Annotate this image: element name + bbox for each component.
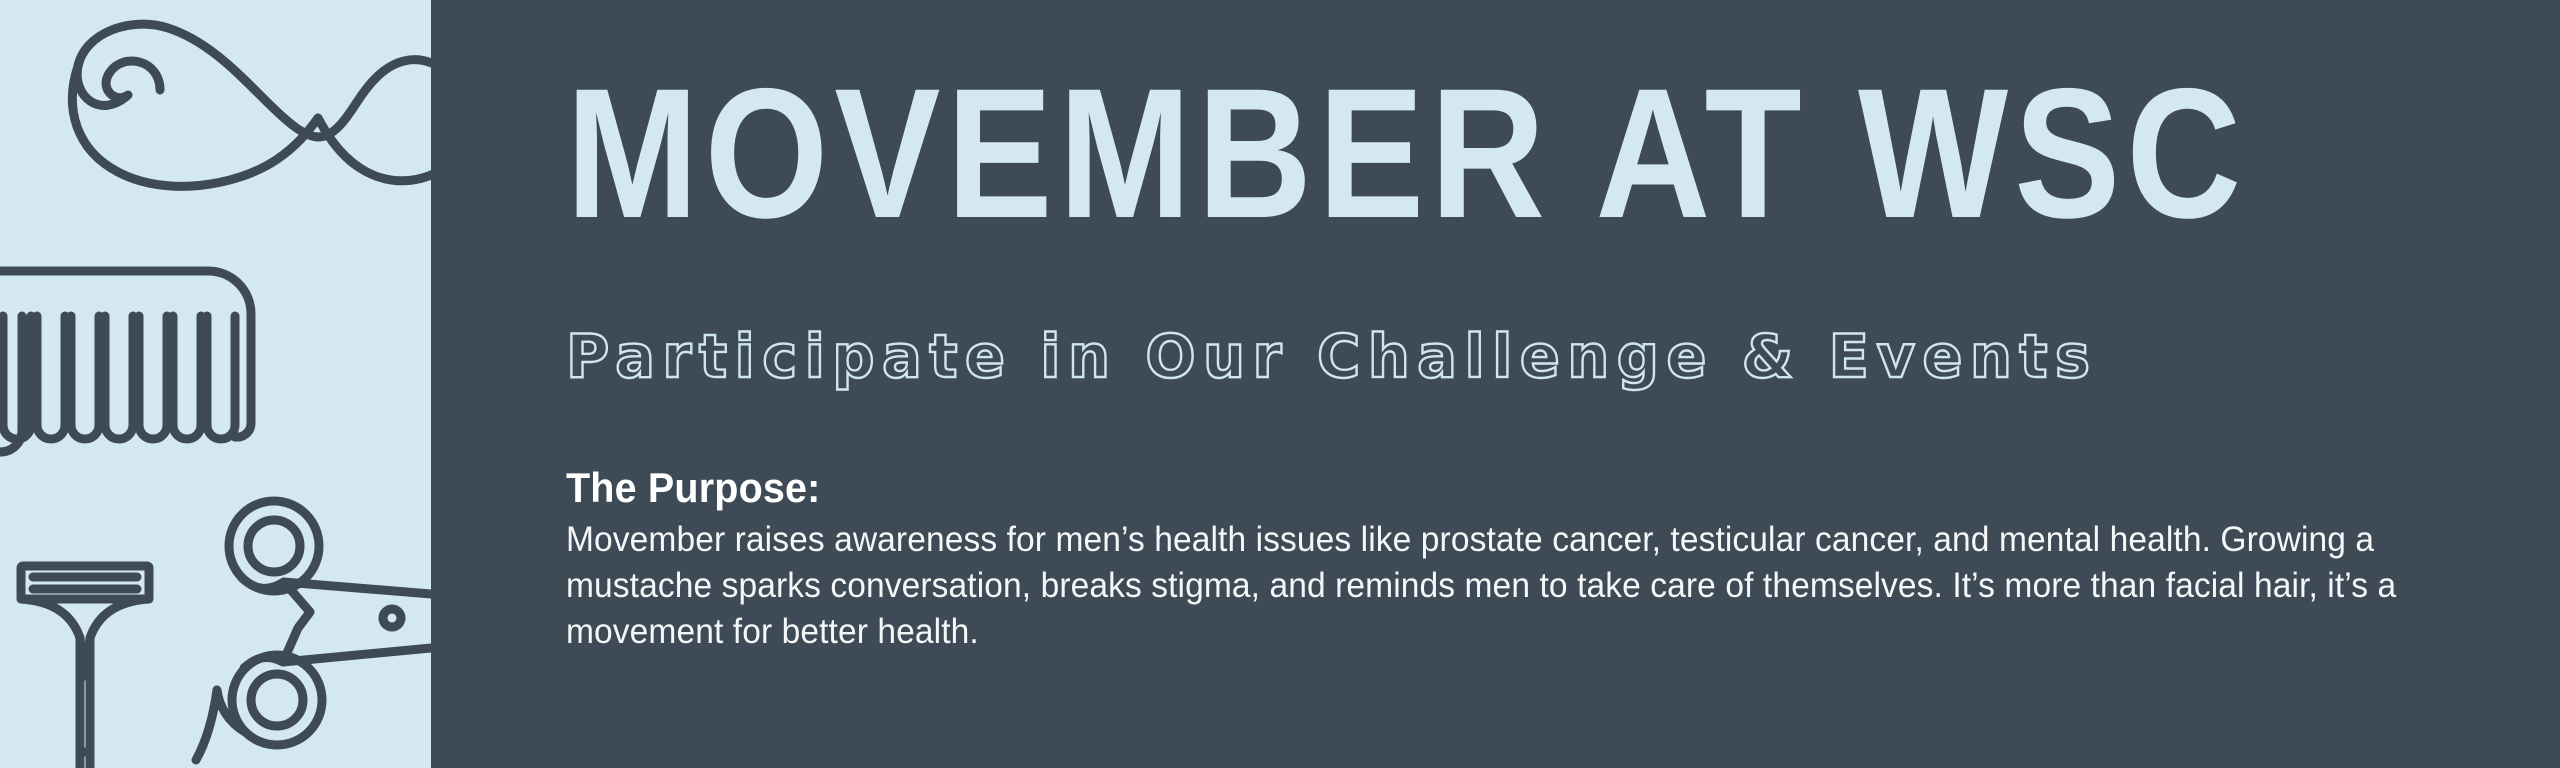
grooming-illustration-svg bbox=[0, 0, 431, 768]
razor-icon bbox=[21, 566, 149, 768]
comb-icon bbox=[0, 271, 251, 452]
page-title: MOVEMBER AT WSC bbox=[566, 62, 2247, 247]
movember-banner: MOVEMBER AT WSC Participate in Our Chall… bbox=[0, 0, 2560, 768]
purpose-body-text: Movember raises awareness for men’s heal… bbox=[566, 516, 2437, 654]
grooming-illustration-panel bbox=[0, 0, 431, 768]
purpose-heading: The Purpose: bbox=[566, 466, 2427, 510]
mustache-icon bbox=[72, 24, 431, 186]
scissors-icon bbox=[196, 501, 431, 768]
page-subtitle: Participate in Our Challenge & Events bbox=[566, 327, 2098, 387]
purpose-block: The Purpose: Movember raises awareness f… bbox=[566, 466, 2546, 654]
content-panel: MOVEMBER AT WSC Participate in Our Chall… bbox=[431, 0, 2560, 768]
